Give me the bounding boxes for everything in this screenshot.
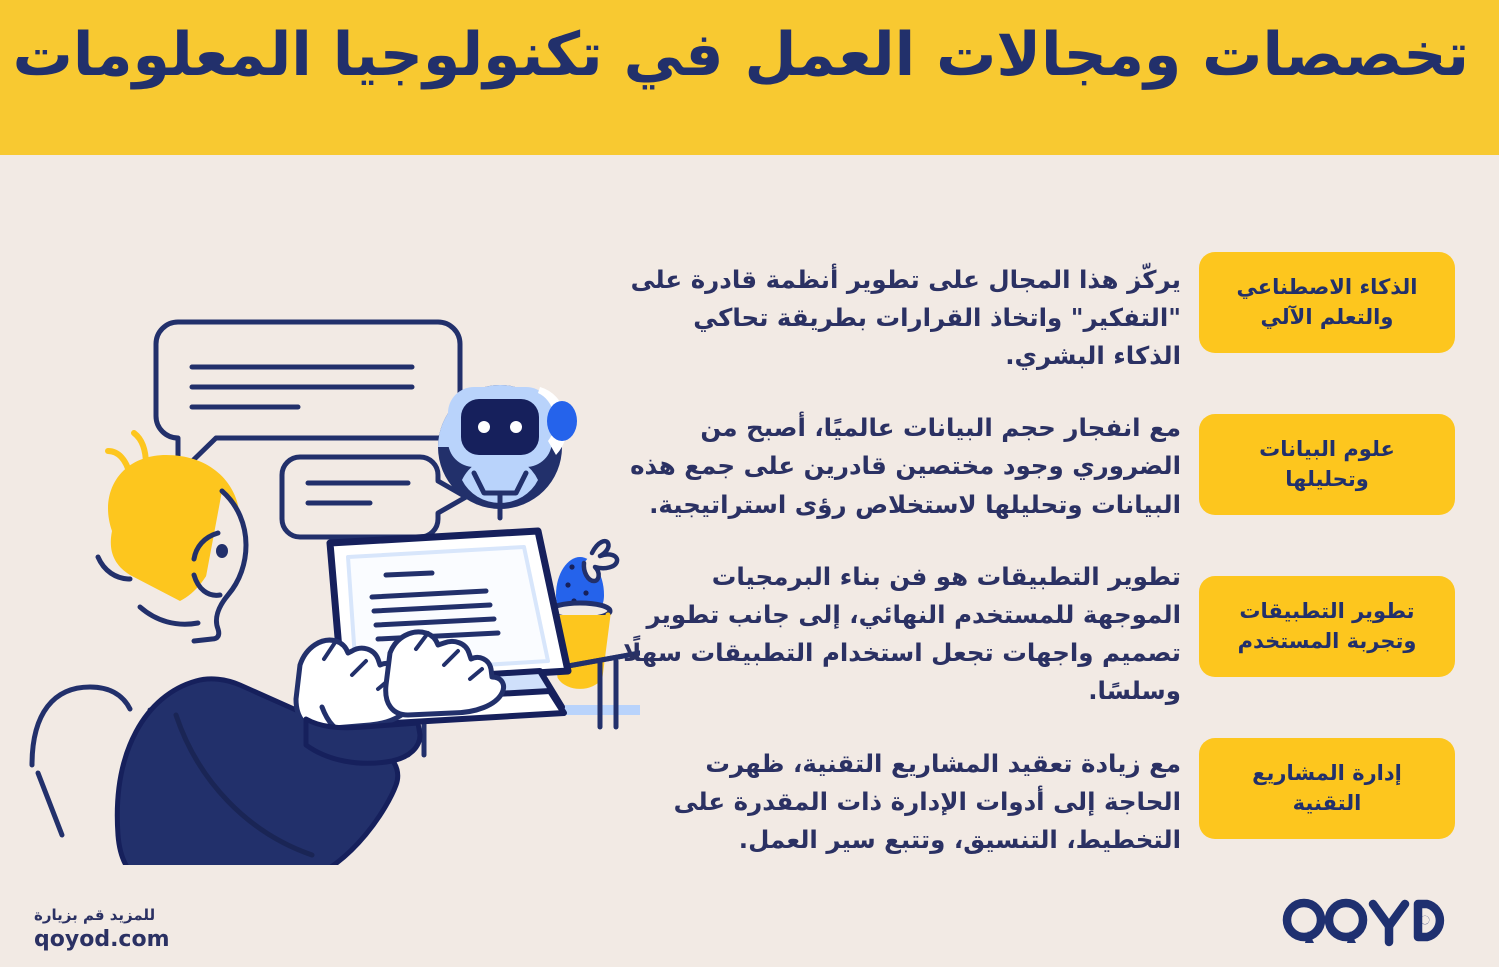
badge-app-development-line2: وتجربة المستخدم [1238, 629, 1417, 653]
infographic-page: تخصصات ومجالات العمل في تكنولوجيا المعلو… [0, 0, 1499, 967]
page-title: تخصصات ومجالات العمل في تكنولوجيا المعلو… [30, 18, 1469, 93]
paragraph-app-development: تطوير التطبيقات هو فن بناء البرمجيات الم… [621, 558, 1181, 711]
footer-website-link[interactable]: qoyod.com [34, 925, 170, 955]
header-band: تخصصات ومجالات العمل في تكنولوجيا المعلو… [0, 0, 1499, 155]
paragraph-data-science: مع انفجار حجم البيانات عالميًا، أصبح من … [621, 409, 1181, 524]
badge-ai-line2: والتعلم الآلي [1261, 305, 1394, 329]
person-head-icon [98, 433, 246, 641]
badge-app-development[interactable]: تطوير التطبيقات وتجربة المستخدم [1199, 576, 1455, 677]
badge-column: الذكاء الاصطناعي والتعلم الآلي علوم البي… [1199, 252, 1455, 839]
badge-data-science[interactable]: علوم البيانات وتحليلها [1199, 414, 1455, 515]
brand-logo [1280, 898, 1455, 950]
robot-head-icon [438, 385, 577, 509]
footer-visit-label: للمزيد قم بزيارة [34, 905, 170, 925]
badge-project-management-line1: إدارة المشاريع [1252, 761, 1402, 785]
qoyod-logo-icon [1280, 898, 1455, 950]
badge-project-management-line2: التقنية [1293, 791, 1362, 815]
paragraph-column: يركّز هذا المجال على تطوير أنظمة قادرة ع… [621, 236, 1181, 859]
badge-ai[interactable]: الذكاء الاصطناعي والتعلم الآلي [1199, 252, 1455, 353]
paragraph-ai: يركّز هذا المجال على تطوير أنظمة قادرة ع… [621, 261, 1181, 376]
person-sleeve [306, 719, 420, 763]
badge-ai-line1: الذكاء الاصطناعي [1237, 275, 1418, 299]
badge-app-development-line1: تطوير التطبيقات [1239, 599, 1414, 623]
footer-visit-note: للمزيد قم بزيارة qoyod.com [34, 905, 170, 955]
speech-bubble-large-icon [156, 322, 460, 475]
badge-data-science-line1: علوم البيانات [1259, 437, 1395, 461]
paragraph-project-management: مع زيادة تعقيد المشاريع التقنية، ظهرت ال… [621, 745, 1181, 860]
illustration [0, 275, 640, 865]
badge-data-science-line2: وتحليلها [1285, 467, 1369, 491]
speech-bubble-small-icon [282, 457, 466, 537]
badge-project-management[interactable]: إدارة المشاريع التقنية [1199, 738, 1455, 839]
